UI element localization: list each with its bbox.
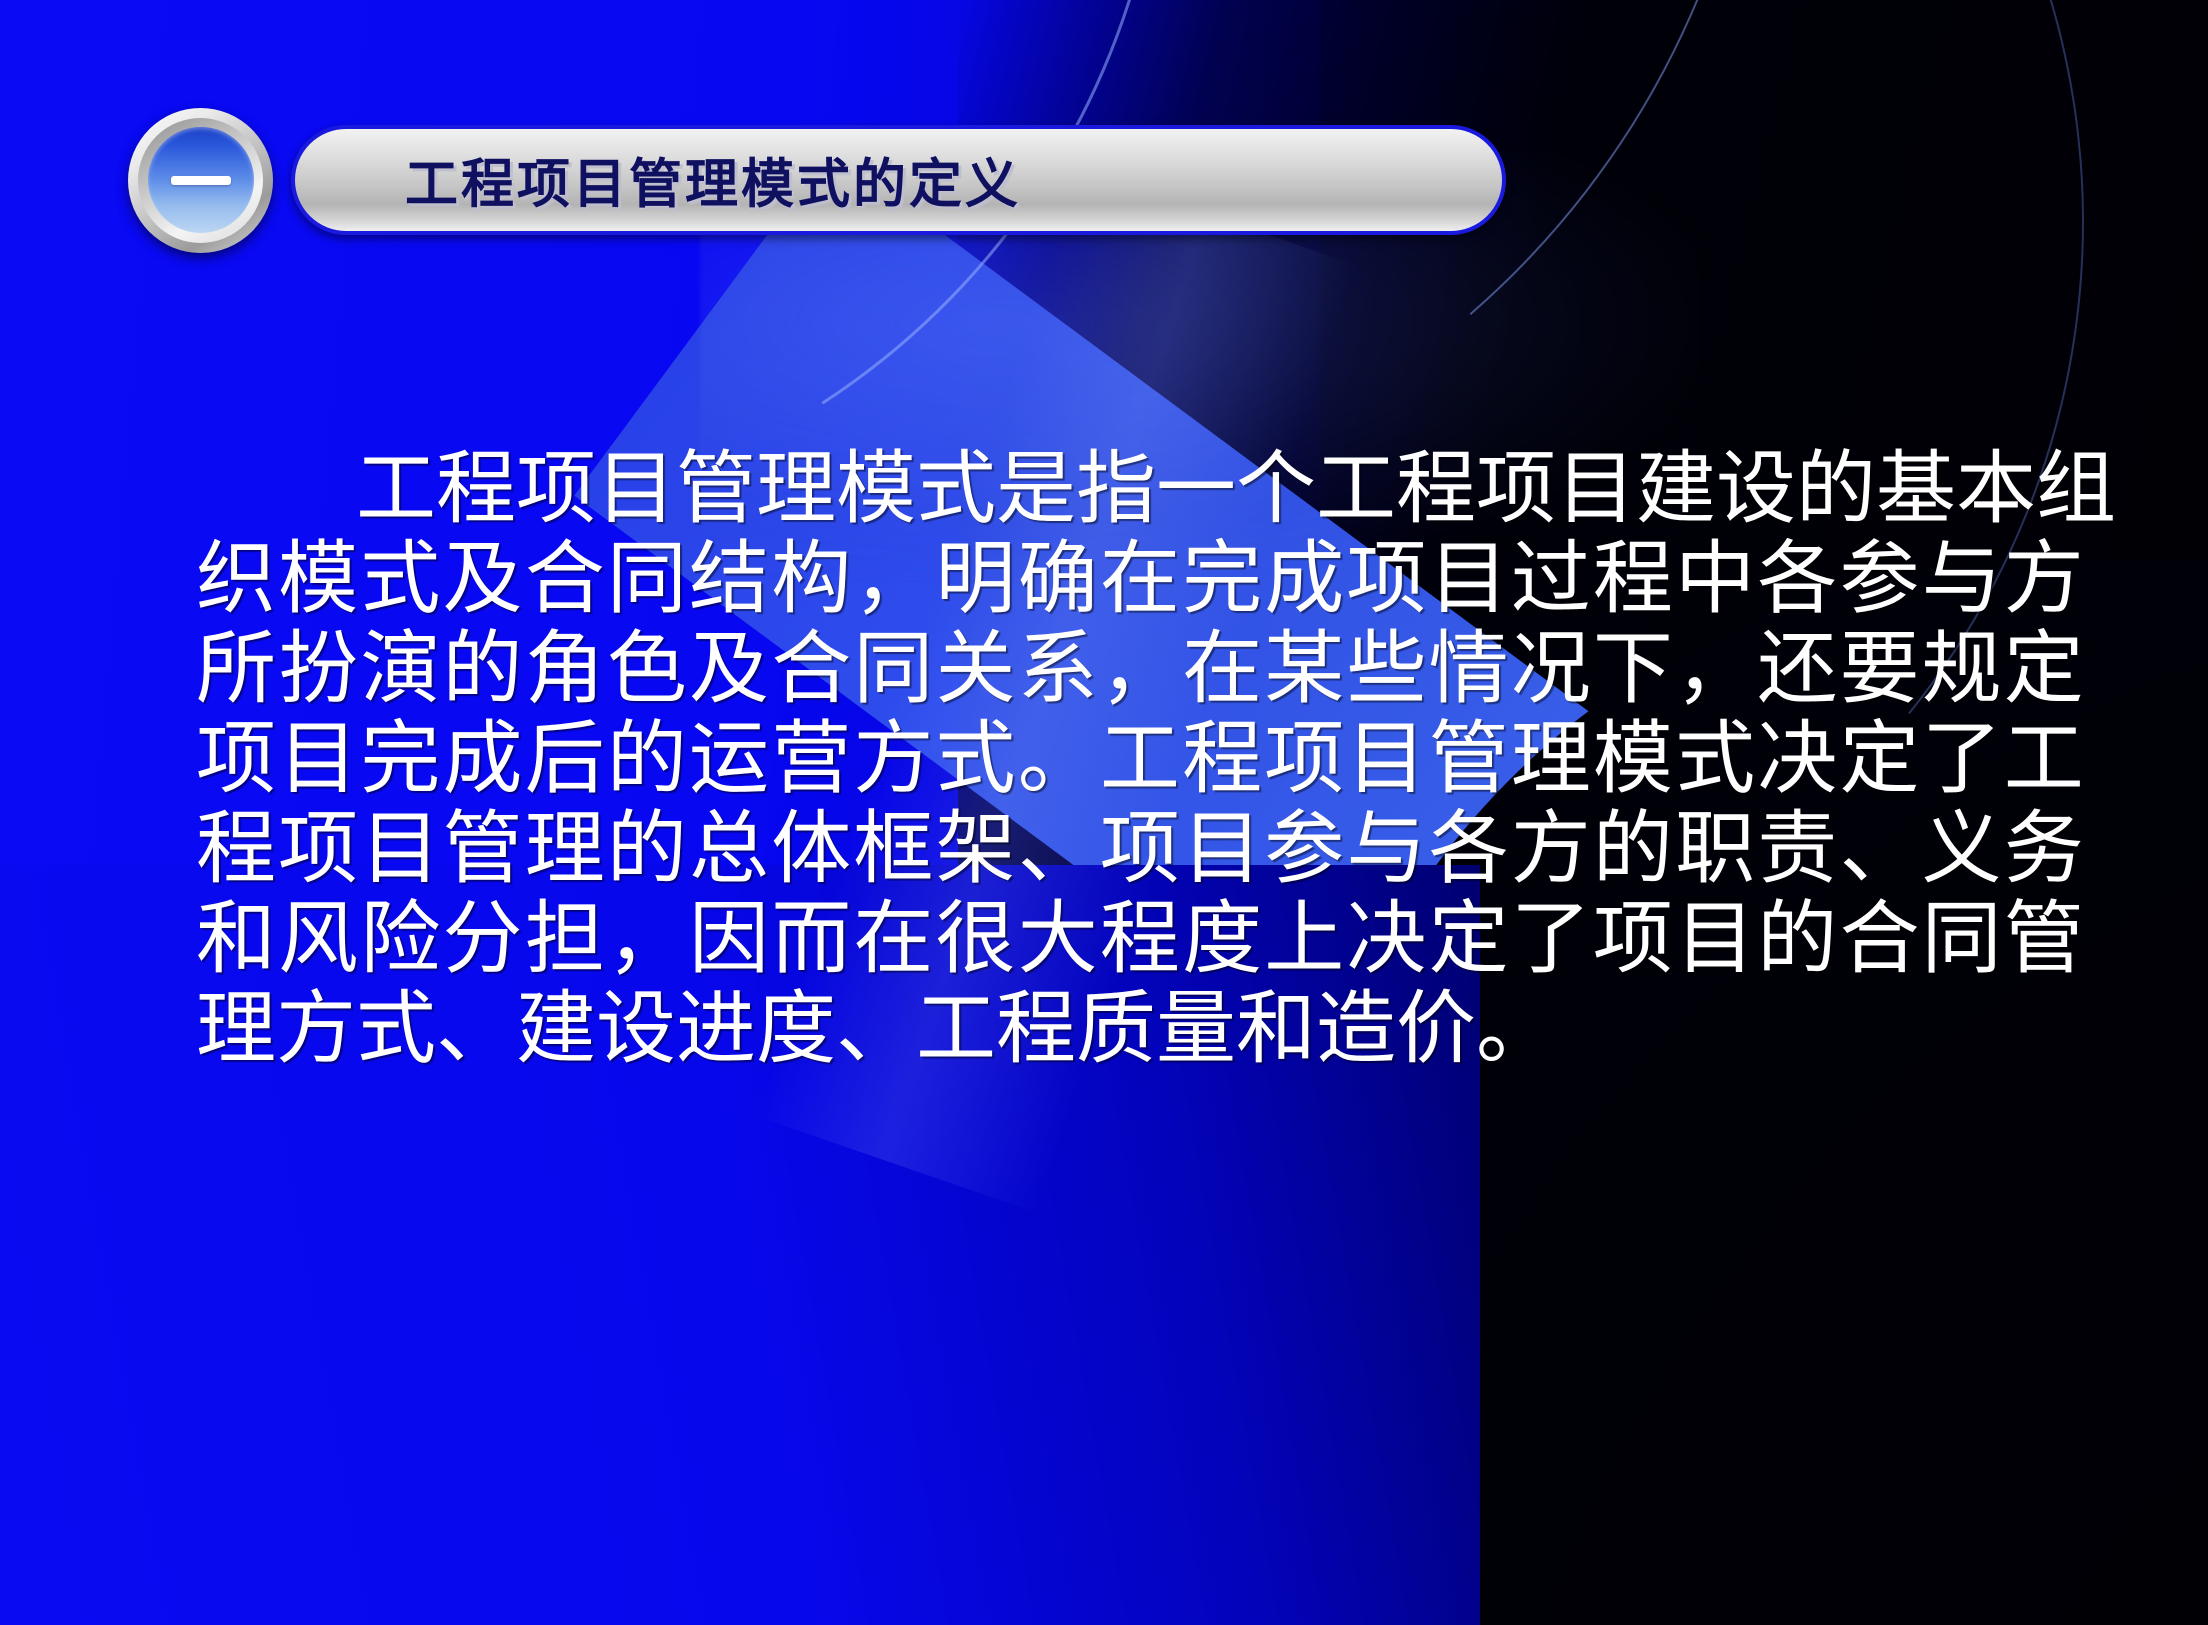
body-line: 所扮演的角色及合同关系，在某些情况下，还要规定 [196,625,2084,715]
body-line: 和风险分担，因而在很大程度上决定了项目的合同管 [196,895,2084,985]
body-line: 项目完成后的运营方式。工程项目管理模式决定了工 [196,715,2084,805]
slide-title-bar: 工程项目管理模式的定义 [128,108,1508,253]
page-title: 工程项目管理模式的定义 [405,142,1021,218]
body-line: 程项目管理的总体框架、项目参与各方的职责、义务 [196,805,2084,895]
title-plate: 工程项目管理模式的定义 [291,125,1506,235]
minus-icon [148,127,254,233]
body-line: 理方式、建设进度、工程质量和造价。 [196,985,2084,1075]
presentation-slide: 工程项目管理模式的定义 工程项目管理模式是指一个工程项目建设的基本组 织模式及合… [0,0,2208,1625]
minus-icon-glyph [171,176,231,185]
slide-body-text: 工程项目管理模式是指一个工程项目建设的基本组 织模式及合同结构，明确在完成项目过… [196,445,2084,1075]
body-line: 工程项目管理模式是指一个工程项目建设的基本组 [196,445,2084,535]
body-line: 织模式及合同结构，明确在完成项目过程中各参与方 [196,535,2084,625]
title-badge [128,108,273,253]
